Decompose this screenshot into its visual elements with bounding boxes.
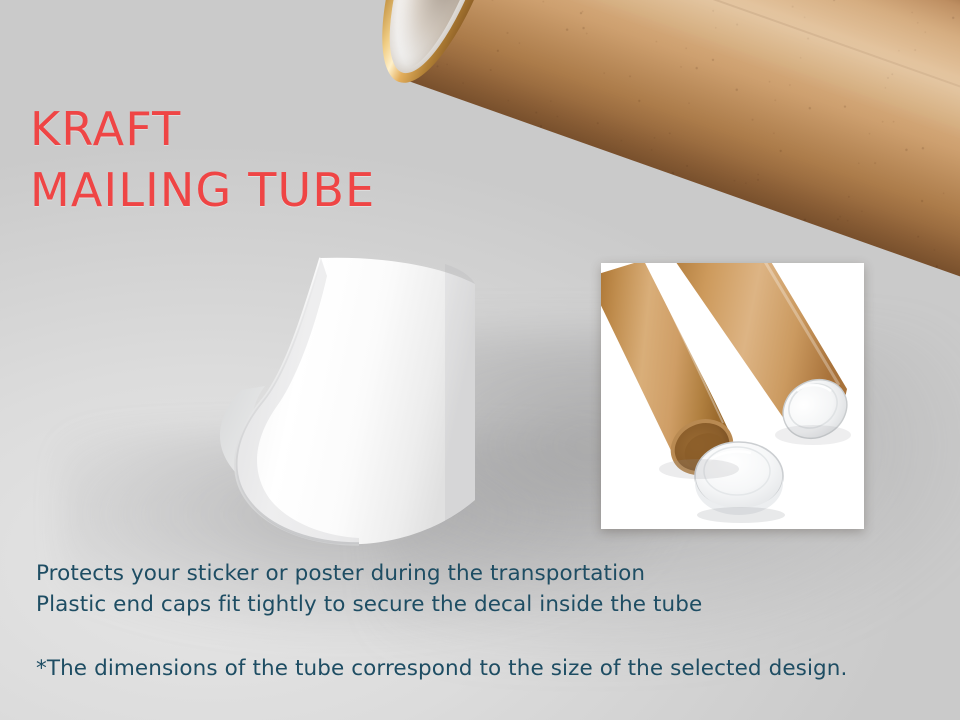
feature-line-2: Plastic end caps fit tightly to secure t… bbox=[36, 589, 702, 620]
page-title: KRAFT MAILING TUBE bbox=[30, 38, 375, 283]
feature-line-1: Protects your sticker or poster during t… bbox=[36, 558, 702, 589]
gold-rim-outer bbox=[356, 0, 533, 97]
poster-edge-highlight bbox=[236, 258, 359, 544]
tube-mouth-interior bbox=[367, 0, 522, 85]
poster-back-face bbox=[220, 386, 381, 526]
feature-copy: Protects your sticker or poster during t… bbox=[36, 558, 702, 620]
poster-front-face bbox=[236, 258, 475, 544]
product-detail-photo bbox=[601, 263, 864, 529]
tube-seam-line bbox=[459, 0, 960, 263]
tube-cavity-shadow bbox=[371, 0, 516, 79]
footnote-text: *The dimensions of the tube correspond t… bbox=[36, 656, 847, 681]
title-line-1: KRAFT bbox=[30, 102, 181, 156]
poster-fold-shading bbox=[236, 258, 359, 544]
poster-inner-shadow bbox=[445, 264, 475, 521]
curled-poster bbox=[145, 250, 475, 550]
title-line-2: MAILING TUBE bbox=[30, 160, 375, 221]
product-banner: KRAFT MAILING TUBE Protects your sticker… bbox=[0, 0, 960, 720]
inset-loose-cap bbox=[695, 442, 785, 523]
